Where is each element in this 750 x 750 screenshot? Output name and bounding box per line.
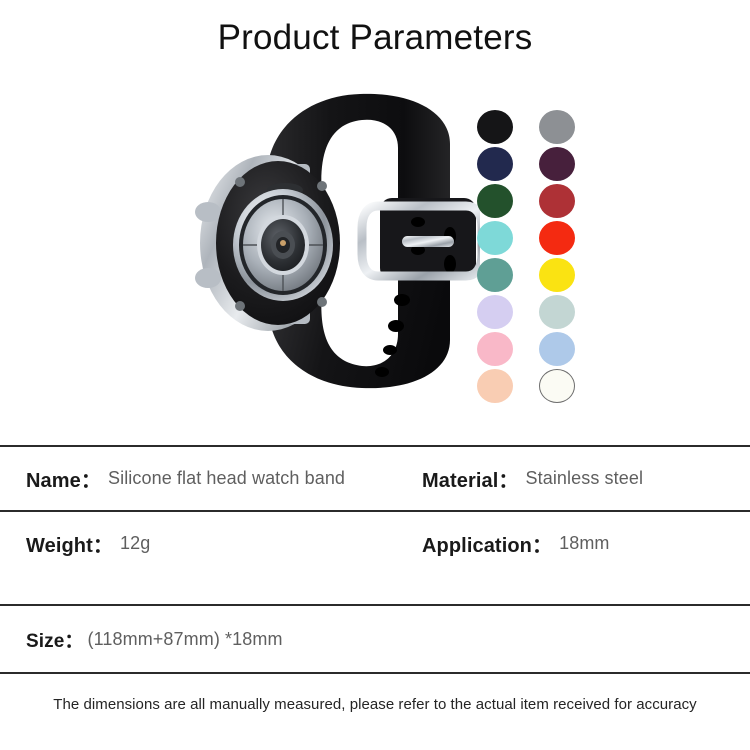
color-swatch-off-white[interactable] xyxy=(539,369,575,403)
color-swatch-teal-green[interactable] xyxy=(477,258,513,292)
color-swatch-dark-plum[interactable] xyxy=(539,147,575,181)
spec-label: Name： xyxy=(26,464,101,493)
spec-cell-name: Name： Silicone flat head watch band xyxy=(26,446,345,510)
color-swatch-grid[interactable] xyxy=(477,110,581,406)
color-swatch-peach[interactable] xyxy=(477,369,513,403)
color-swatch-yellow[interactable] xyxy=(539,258,575,292)
spec-label: Application： xyxy=(422,529,552,558)
spec-value: Stainless steel xyxy=(526,468,644,489)
color-swatch-pale-sage[interactable] xyxy=(539,295,575,329)
spec-value: (118mm+87mm) *18mm xyxy=(88,629,283,650)
spec-cell-weight: Weight： 12g xyxy=(26,511,150,575)
spec-value: 12g xyxy=(120,533,150,554)
disclaimer-text: The dimensions are all manually measured… xyxy=(0,674,750,734)
product-hero xyxy=(0,78,750,408)
color-swatch-brick-red[interactable] xyxy=(539,184,575,218)
spec-value: 18mm xyxy=(559,533,609,554)
color-swatch-navy-blue[interactable] xyxy=(477,147,513,181)
color-swatch-dark-green[interactable] xyxy=(477,184,513,218)
spec-cell-size: Size： (118mm+87mm) *18mm xyxy=(0,606,750,672)
color-swatch-bright-red[interactable] xyxy=(539,221,575,255)
spec-label: Size： xyxy=(26,626,84,653)
smartwatch-product-image xyxy=(150,78,480,398)
color-swatch-pink[interactable] xyxy=(477,332,513,366)
table-row: Weight： 12g Application： 18mm xyxy=(0,511,750,575)
spec-cell-material: Material： Stainless steel xyxy=(422,446,643,510)
color-swatch-gray[interactable] xyxy=(539,110,575,144)
table-row: Name： Silicone flat head watch band Mate… xyxy=(0,446,750,510)
spec-label: Weight： xyxy=(26,529,113,558)
color-swatch-black[interactable] xyxy=(477,110,513,144)
color-swatch-turquoise[interactable] xyxy=(477,221,513,255)
spec-label: Material： xyxy=(422,464,519,493)
spec-cell-application: Application： 18mm xyxy=(422,511,610,575)
color-swatch-light-blue[interactable] xyxy=(539,332,575,366)
page-title: Product Parameters xyxy=(0,16,750,60)
color-swatch-lavender[interactable] xyxy=(477,295,513,329)
spec-value: Silicone flat head watch band xyxy=(108,468,345,489)
